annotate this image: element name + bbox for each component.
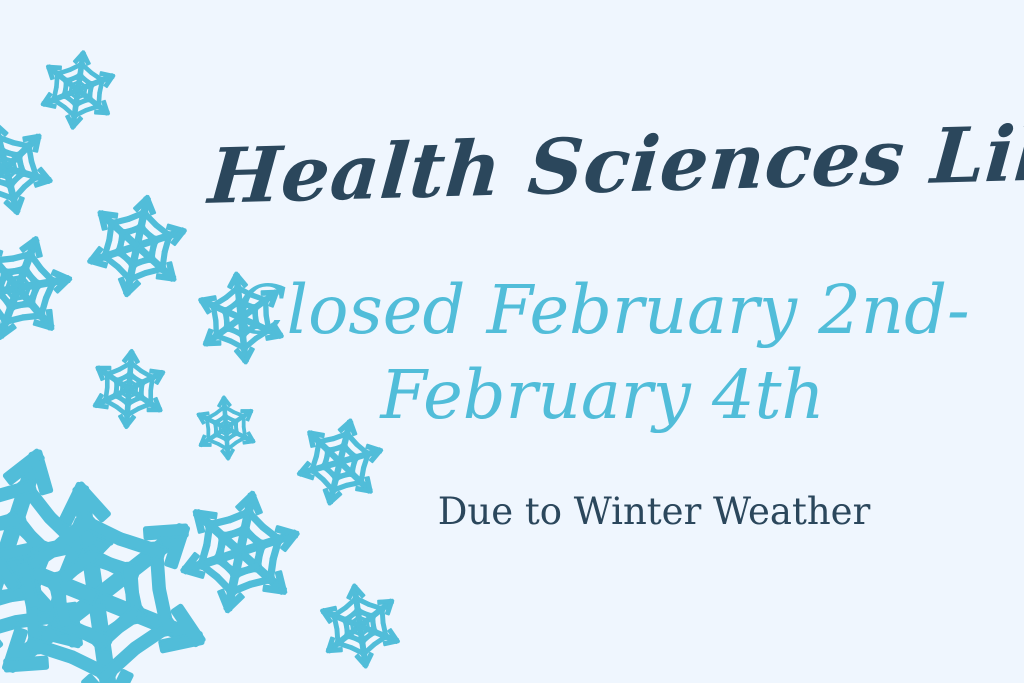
closure-reason: Due to Winter Weather (330, 492, 978, 533)
page-title: Health Sciences Library (206, 117, 994, 215)
closure-dates-line-2: February 4th (230, 353, 975, 438)
winter-closure-poster: Health Sciences Library Closed February … (0, 0, 1024, 683)
closure-dates: Closed February 2nd- February 4th (230, 268, 975, 438)
poster-text-layer: Health Sciences Library Closed February … (0, 0, 1024, 683)
closure-dates-line-1: Closed February 2nd- (235, 271, 969, 349)
